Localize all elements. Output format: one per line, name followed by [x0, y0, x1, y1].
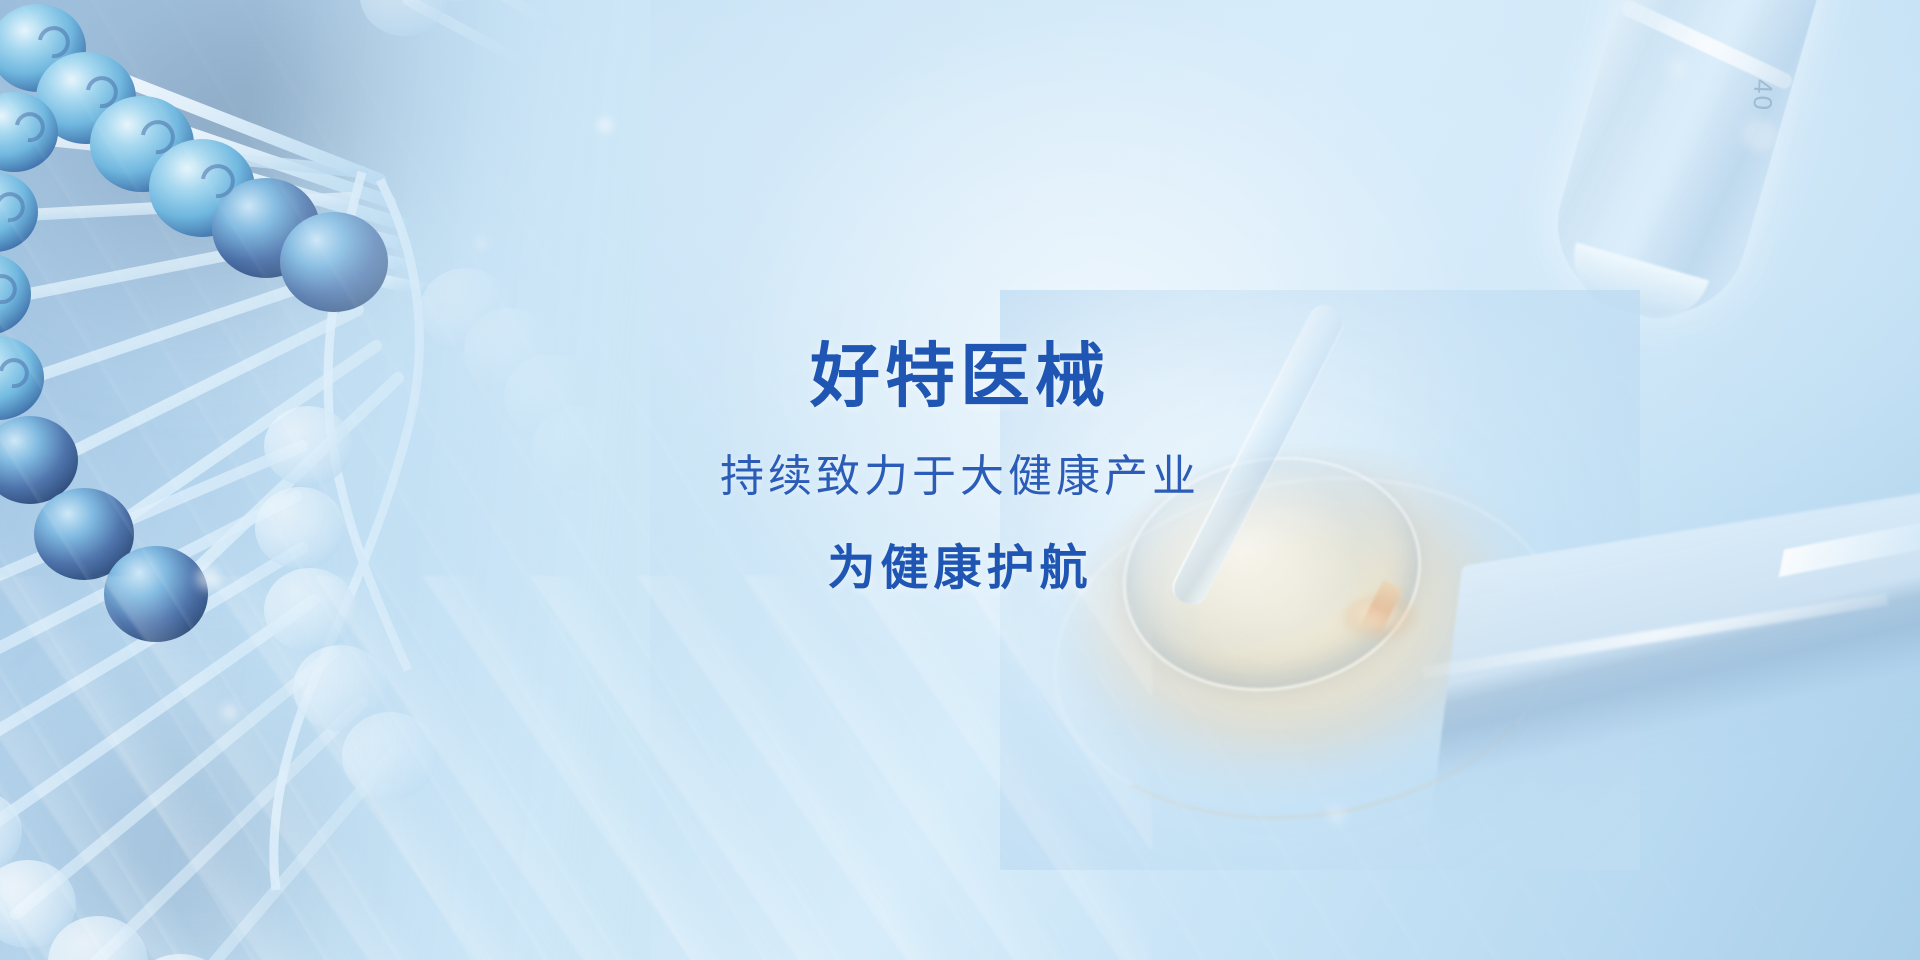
hero-title: 好特医械 — [810, 341, 1110, 411]
hero-subtitle: 持续致力于大健康产业 — [720, 455, 1200, 499]
hero-copy-block: 好特医械 持续致力于大健康产业 为健康护航 — [0, 0, 1920, 960]
hero-banner: 40 好特医械 持续致力于大健康产业 为健康护航 — [0, 0, 1920, 960]
hero-tagline: 为健康护航 — [827, 545, 1092, 593]
